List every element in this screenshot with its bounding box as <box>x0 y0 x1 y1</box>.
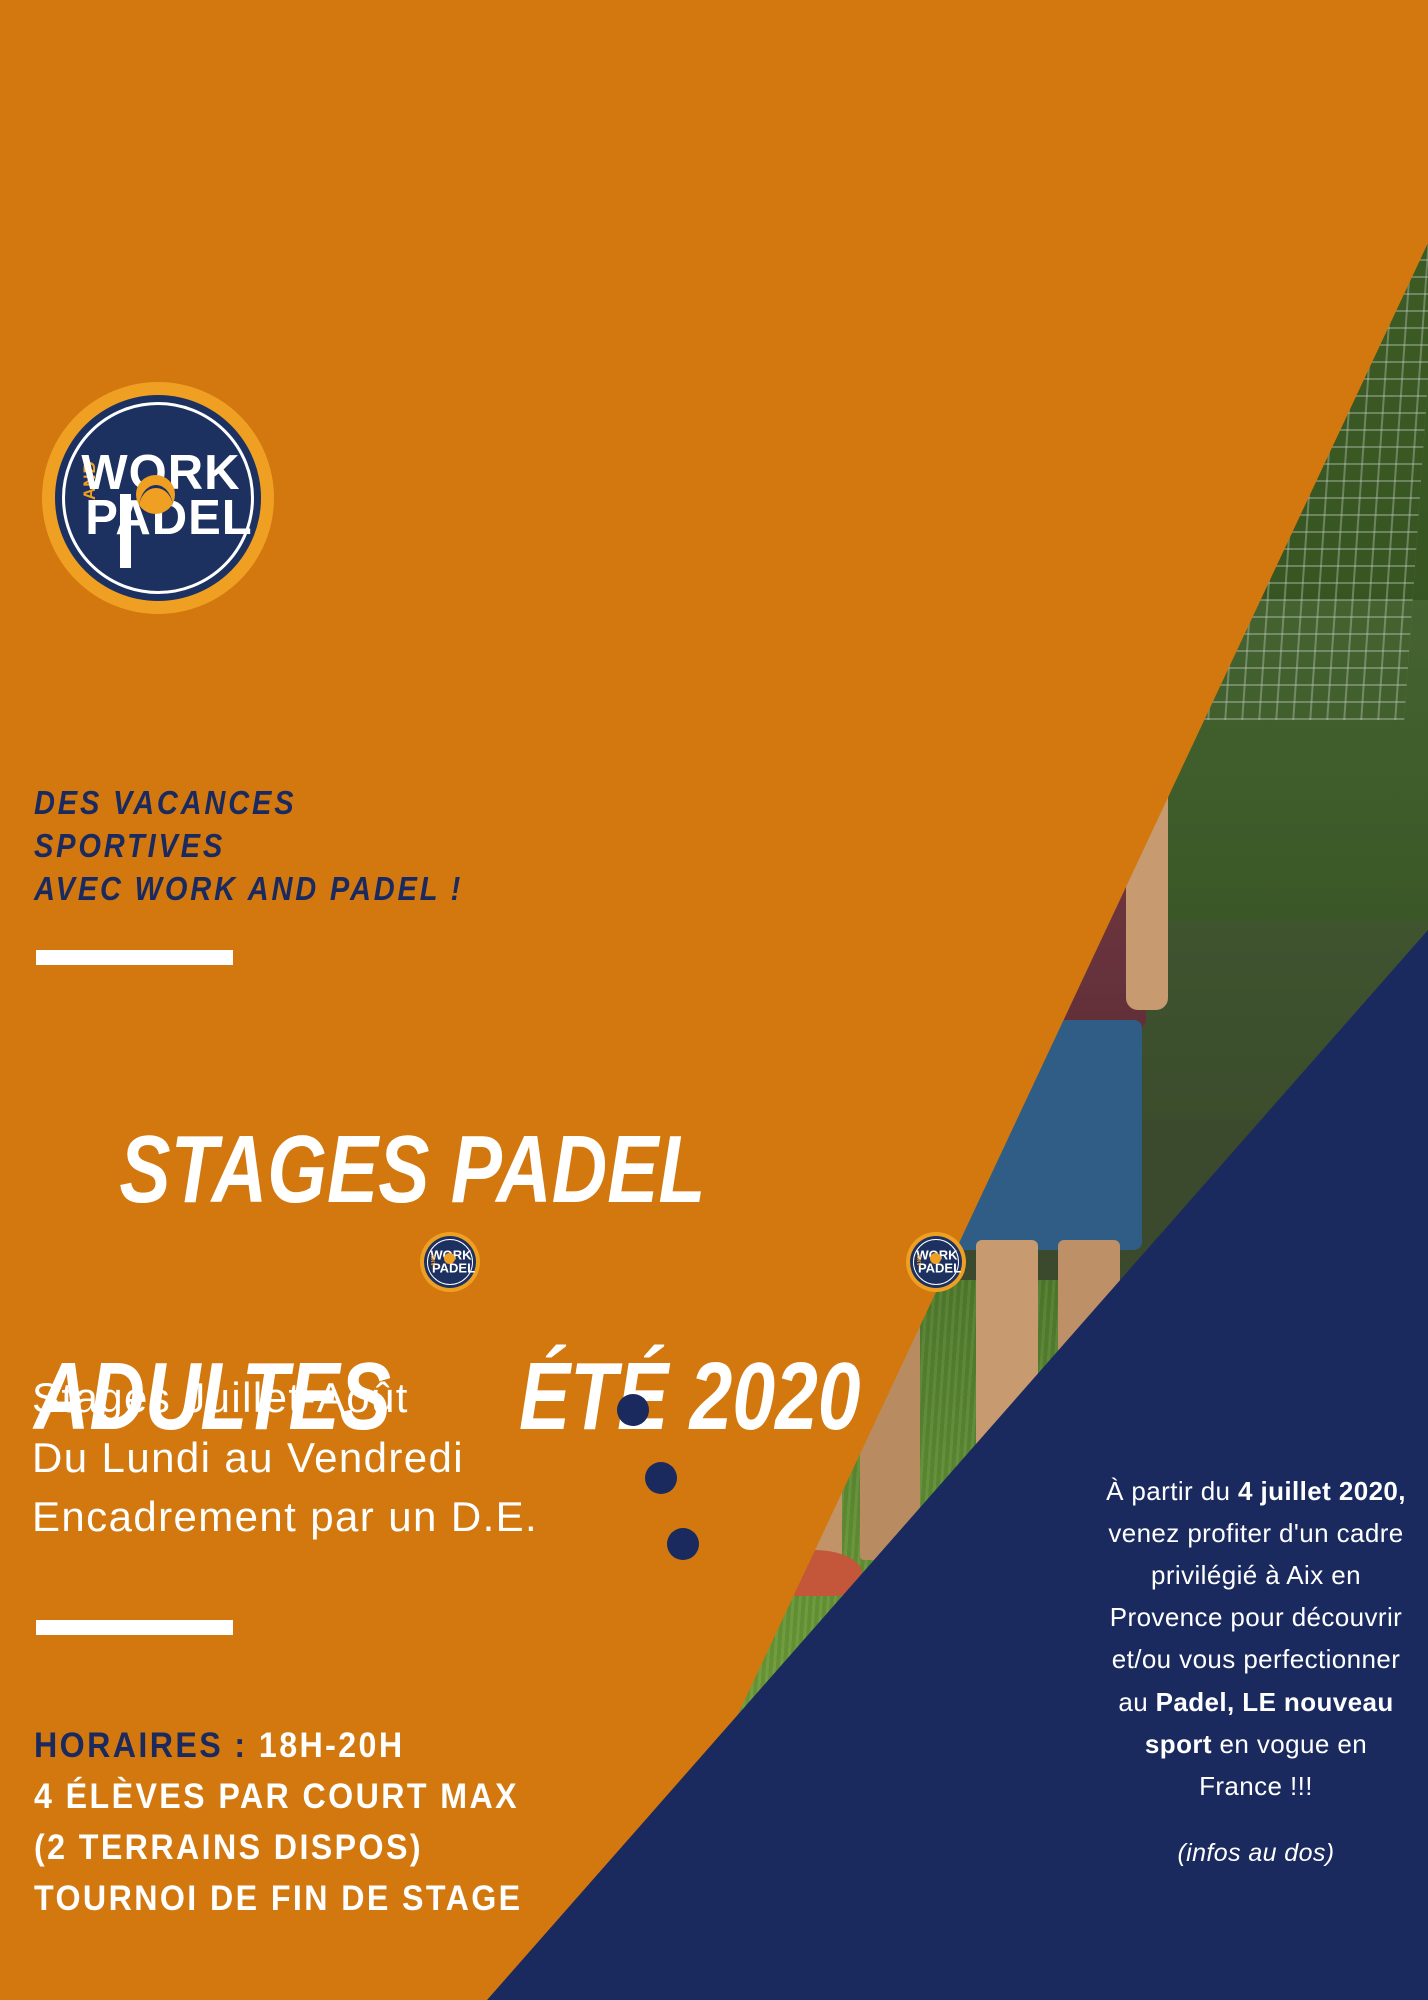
tennis-ball-icon <box>136 475 175 514</box>
headline-line-1: STAGES PADEL <box>119 1116 705 1223</box>
work-and-padel-logo: AND WORK PADEL <box>42 382 274 614</box>
details-block: Stages Juillet-Août Du Lundi au Vendredi… <box>32 1368 538 1547</box>
schedule-row-2: 4 ÉLÈVES PAR COURT MAX <box>34 1771 678 1822</box>
sidenote-block: À partir du 4 juillet 2020, venez profit… <box>1106 1470 1406 1873</box>
schedule-block: HORAIRES : 18H-20H 4 ÉLÈVES PAR COURT MA… <box>34 1720 678 1924</box>
sidenote-text-e: en vogue en France !!! <box>1199 1729 1367 1801</box>
details-line-2: Du Lundi au Vendredi <box>32 1428 538 1488</box>
details-line-1: Stages Juillet-Août <box>32 1368 538 1428</box>
work-and-padel-badge: WORK PADEL AND <box>906 1232 966 1292</box>
badge-and-text: AND <box>917 1255 923 1266</box>
tennis-ball-icon <box>930 1253 941 1264</box>
dot <box>667 1528 699 1560</box>
sidenote-date: 4 juillet 2020, <box>1238 1476 1406 1506</box>
work-and-padel-badge: WORK PADEL AND <box>420 1232 480 1292</box>
schedule-row-1: HORAIRES : 18H-20H <box>34 1720 678 1771</box>
tagline-line-1: DES VACANCES SPORTIVES <box>34 782 492 868</box>
divider-rule-top <box>36 950 233 965</box>
schedule-row-4: TOURNOI DE FIN DE STAGE <box>34 1873 678 1924</box>
dot <box>617 1394 649 1426</box>
badge-and-text: AND <box>431 1255 437 1266</box>
sidenote-infos: (infos au dos) <box>1106 1833 1406 1874</box>
schedule-label-horaires: HORAIRES : <box>34 1726 259 1765</box>
sidenote-text-a: À partir du <box>1106 1476 1238 1506</box>
poster-canvas: AND WORK PADEL DES VACANCES SPORTIVES AV… <box>0 0 1428 2000</box>
tagline: DES VACANCES SPORTIVES AVEC WORK AND PAD… <box>34 782 492 911</box>
tennis-ball-icon <box>444 1253 455 1264</box>
headline-ete-2020: ÉTÉ 2020 <box>519 1343 861 1450</box>
schedule-row-3: (2 TERRAINS DISPOS) <box>34 1822 678 1873</box>
headline: STAGES PADEL ADULTESÉTÉ 2020 <box>34 1000 834 1680</box>
schedule-value-hours: 18H-20H <box>259 1726 405 1765</box>
dot <box>645 1462 677 1494</box>
details-line-3: Encadrement par un D.E. <box>32 1487 538 1547</box>
tagline-line-2: AVEC WORK AND PADEL ! <box>34 868 492 911</box>
divider-rule-bottom <box>36 1620 233 1635</box>
